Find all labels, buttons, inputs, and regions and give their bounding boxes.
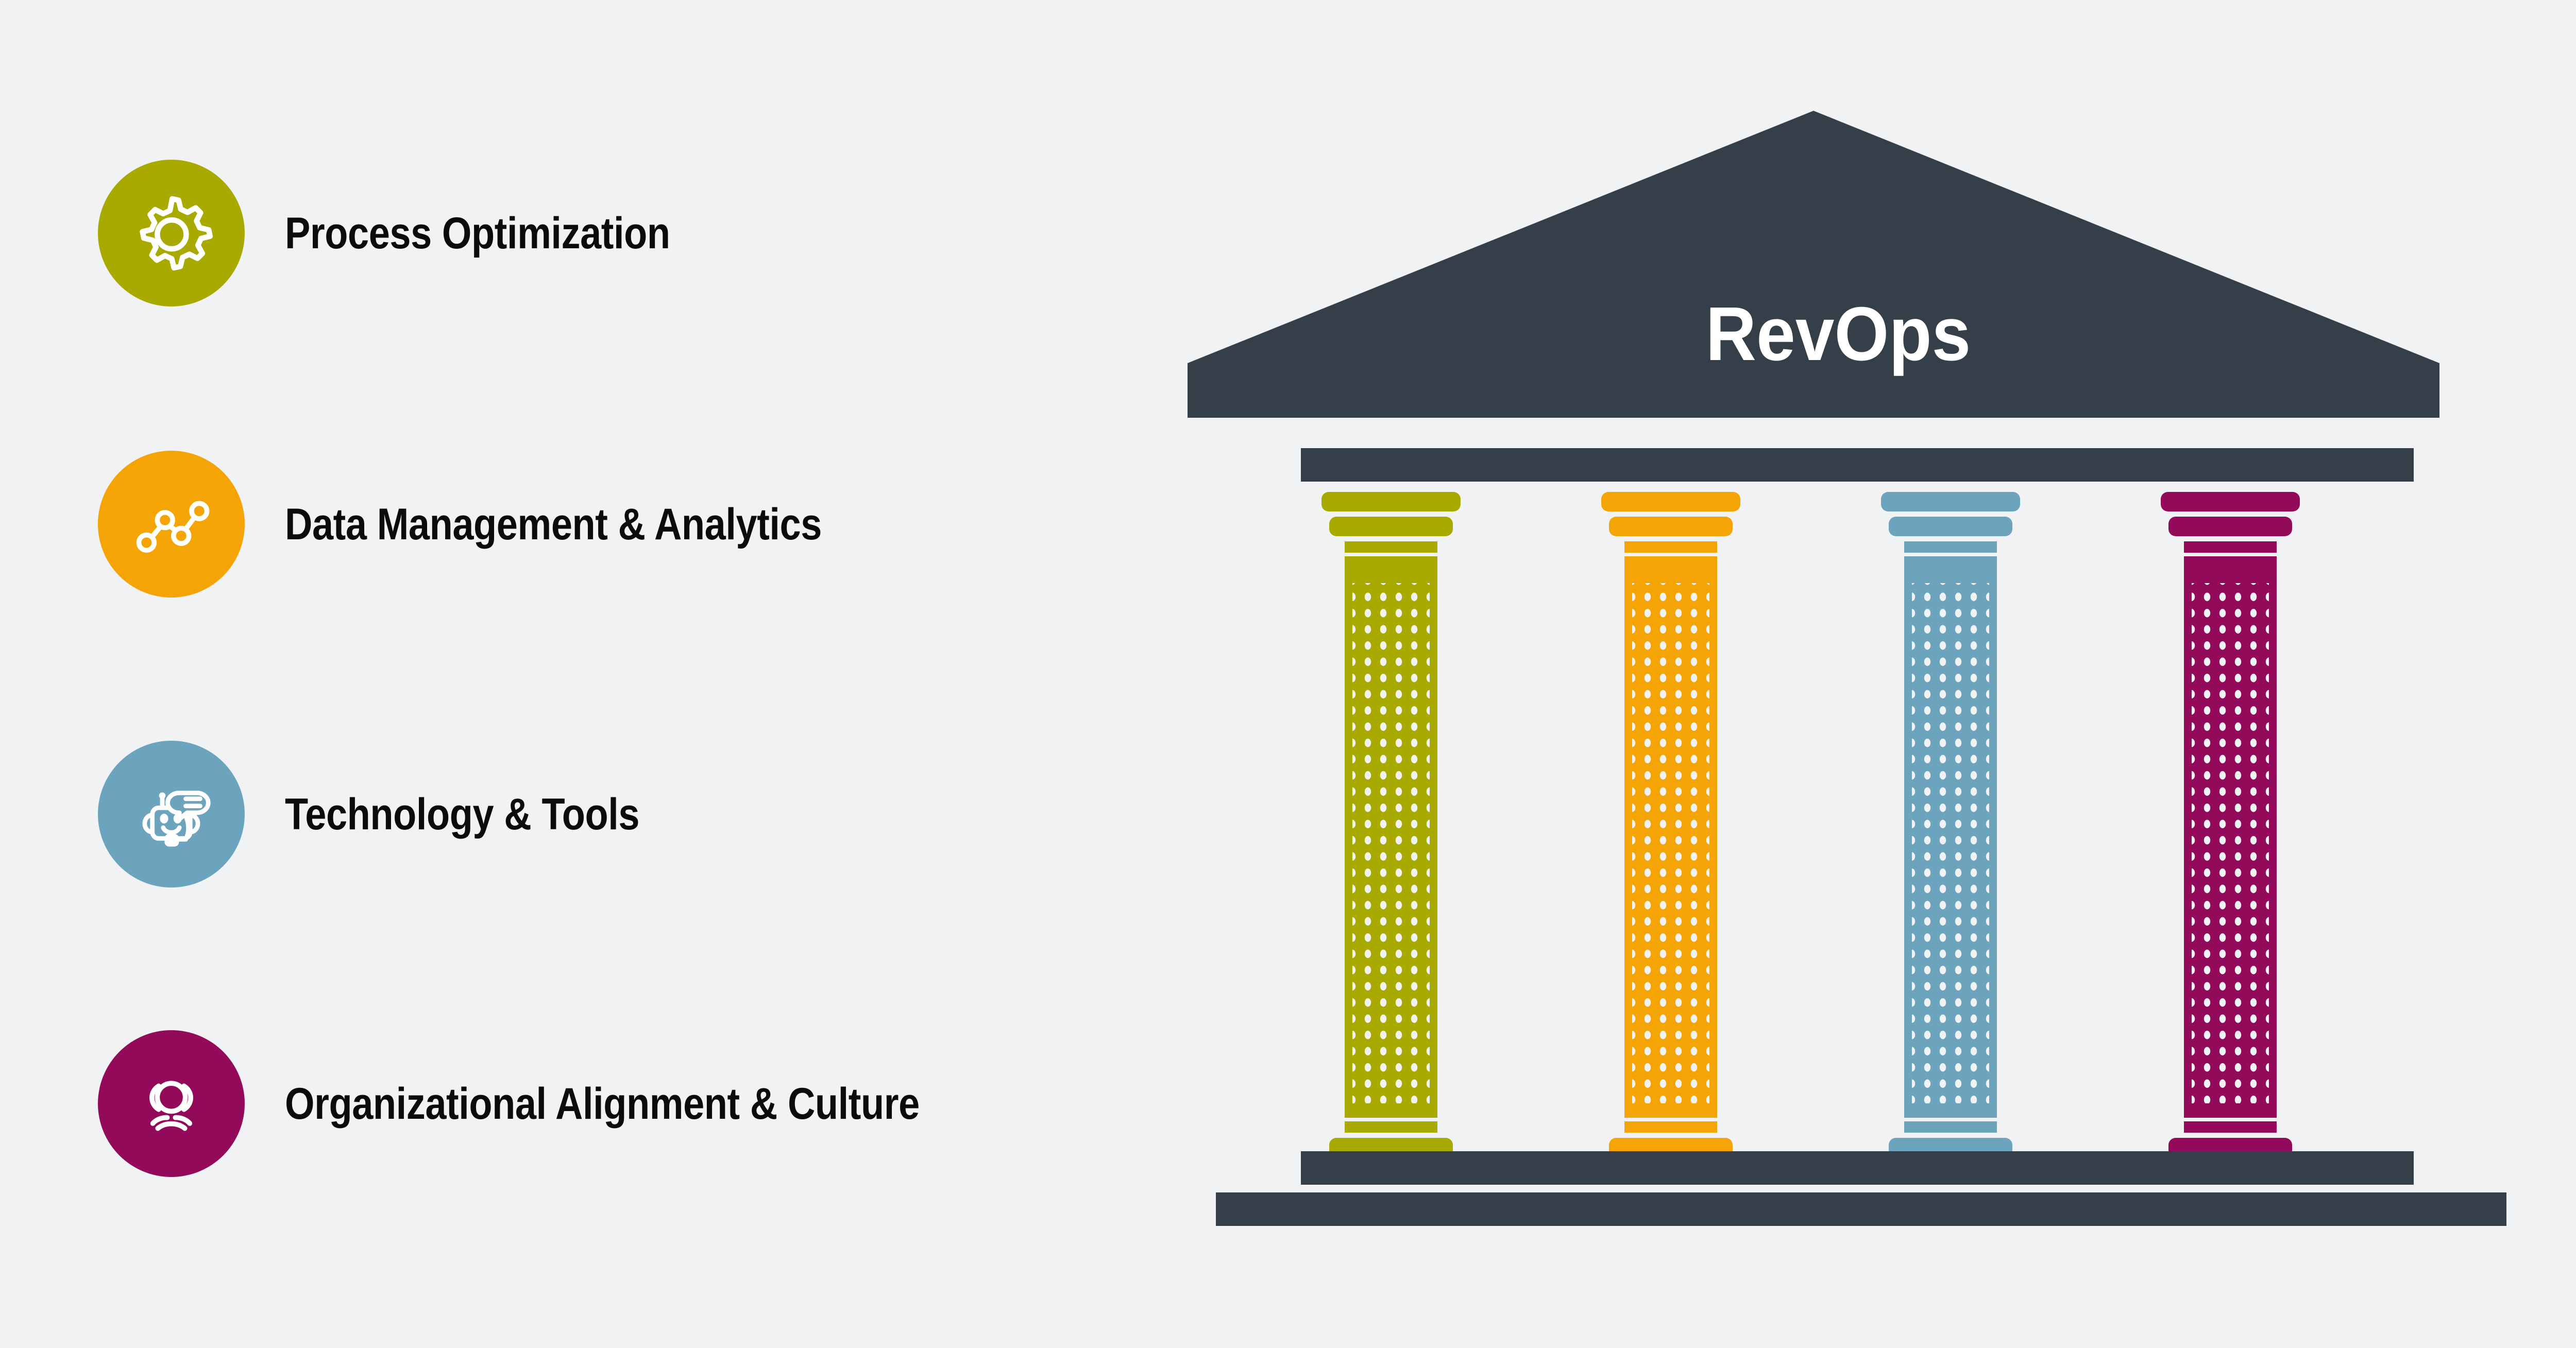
legend-item-process-optimization[interactable]: Process Optimization: [98, 160, 733, 306]
column-band-top: [1624, 541, 1717, 553]
plinth-bar: [1301, 1151, 2414, 1185]
column-shaft: [1345, 556, 1437, 1118]
column-shaft: [2184, 556, 2277, 1118]
legend-item-label: Organizational Alignment & Culture: [285, 1082, 920, 1126]
line-chart-icon: [126, 479, 216, 569]
line-chart-icon-badge: [98, 451, 245, 598]
column-band-top: [2184, 541, 2277, 553]
column-capital-wide: [2161, 492, 2300, 511]
pillar-column-technology-tools[interactable]: [1873, 492, 2028, 1182]
stylobate-bar: [1216, 1192, 2506, 1226]
legend-item-label: Process Optimization: [285, 211, 670, 255]
column-band-top: [1904, 541, 1997, 553]
infographic-canvas: Process Optimization Data Management & A…: [0, 0, 2576, 1348]
column-flute-pattern: [1904, 556, 1997, 1118]
legend-item-data-management[interactable]: Data Management & Analytics: [98, 451, 909, 598]
revops-temple-graphic: RevOps: [1159, 0, 2576, 1348]
column-capital-mid: [1889, 517, 2012, 536]
column-flute-pattern: [1624, 556, 1717, 1118]
column-band-bottom: [1904, 1121, 1997, 1133]
chatbot-icon: [126, 769, 216, 859]
legend-item-label: Data Management & Analytics: [285, 502, 822, 547]
column-capital-mid: [1329, 517, 1453, 536]
column-flute-pattern: [2184, 556, 2277, 1118]
column-capital-mid: [2168, 517, 2292, 536]
legend-item-technology-tools[interactable]: Technology & Tools: [98, 741, 697, 888]
column-band-top: [1345, 541, 1437, 553]
gear-icon: [126, 188, 216, 278]
legend-item-organizational-alignment[interactable]: Organizational Alignment & Culture: [98, 1030, 1023, 1177]
pillar-column-data-management[interactable]: [1594, 492, 1748, 1182]
column-band-bottom: [1345, 1121, 1437, 1133]
column-capital-wide: [1321, 492, 1461, 511]
gear-icon-badge: [98, 160, 245, 306]
pillar-legend: Process Optimization Data Management & A…: [0, 0, 1159, 1348]
column-capital-wide: [1601, 492, 1740, 511]
column-shaft: [1624, 556, 1717, 1118]
column-band-bottom: [1624, 1121, 1717, 1133]
entablature-bar: [1301, 448, 2414, 482]
pediment: RevOps: [1188, 111, 2439, 418]
column-capital-wide: [1881, 492, 2020, 511]
pillar-column-organizational-alignment[interactable]: [2153, 492, 2308, 1182]
chatbot-icon-badge: [98, 741, 245, 888]
column-capital-mid: [1609, 517, 1733, 536]
legend-item-label: Technology & Tools: [285, 792, 639, 837]
column-shaft: [1904, 556, 1997, 1118]
people-group-icon: [126, 1059, 216, 1149]
column-band-bottom: [2184, 1121, 2277, 1133]
column-flute-pattern: [1345, 556, 1437, 1118]
people-group-icon-badge: [98, 1030, 245, 1177]
pillar-column-process-optimization[interactable]: [1314, 492, 1468, 1182]
